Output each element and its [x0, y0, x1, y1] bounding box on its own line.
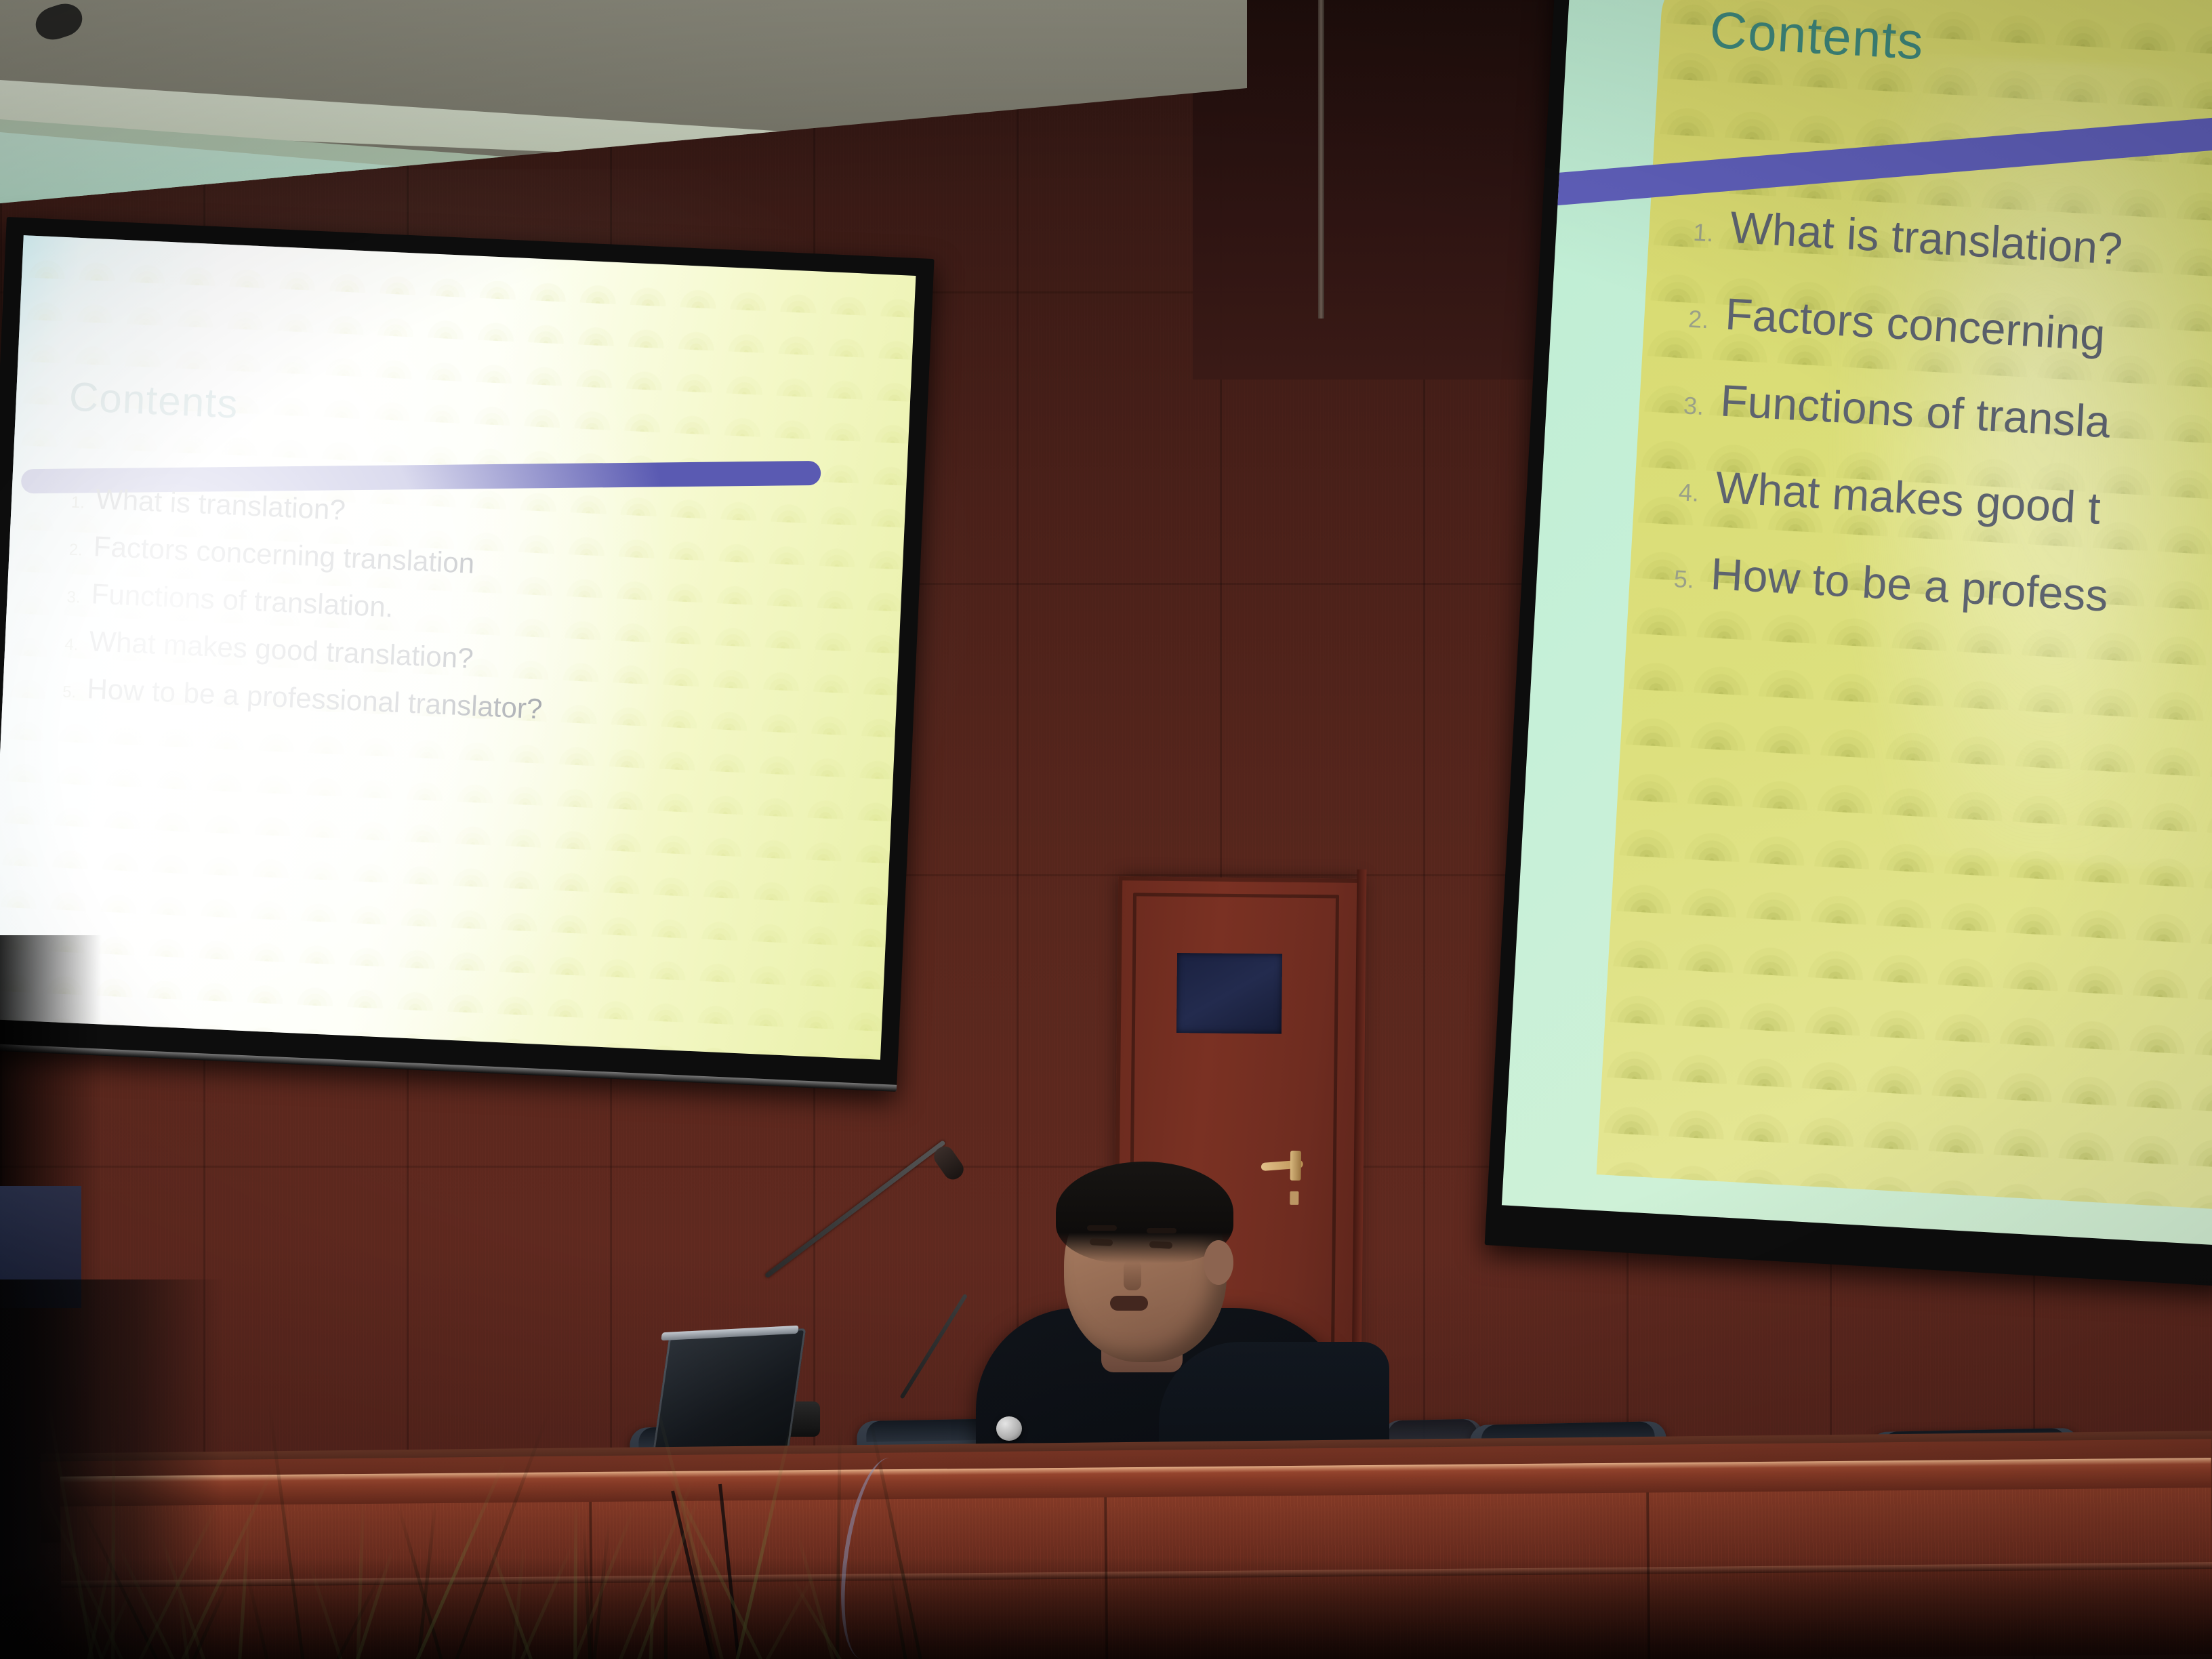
- photo-vignette: [0, 0, 2212, 1659]
- lecture-hall-photo: Contents 1.What is translation?2.Factors…: [0, 0, 2212, 1659]
